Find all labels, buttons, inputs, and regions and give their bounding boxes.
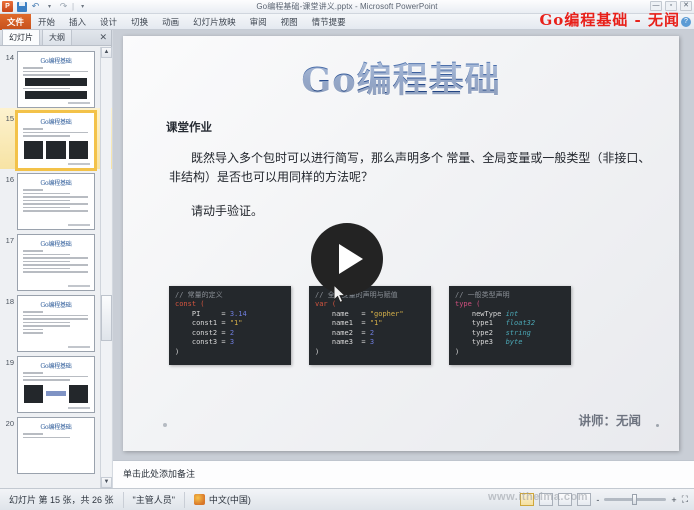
thumbnail-title: Go编程基础 <box>18 117 94 126</box>
thumb-line <box>23 264 88 266</box>
code-close: ) <box>455 348 565 357</box>
scrollbar-thumb[interactable] <box>101 295 112 341</box>
thumb-line <box>23 372 43 374</box>
pane-tab-slides[interactable]: 幻灯片 <box>2 29 40 45</box>
thumb-line <box>23 207 70 209</box>
thumbnail-title: Go编程基础 <box>18 300 94 309</box>
thumb-line <box>23 437 70 439</box>
code-line: name = "gopher" <box>315 310 425 319</box>
thumb-line <box>23 193 70 195</box>
play-triangle-icon <box>339 244 363 274</box>
thumb-line <box>23 332 43 334</box>
thumb-line <box>23 196 88 198</box>
powerpoint-window: P ↶ ▾ ↷ | ▾ Go编程基础-课堂讲义.pptx - Microsoft… <box>0 0 694 510</box>
thumb-line <box>23 74 70 76</box>
list-item[interactable]: 19 Go编程基础 <box>0 352 112 413</box>
thumb-line <box>23 315 88 317</box>
code-line: type2 string <box>455 329 565 338</box>
language-icon <box>194 494 205 505</box>
type-code-block[interactable]: // 一般类型声明 type ( newType int type1 float… <box>449 286 571 365</box>
thumb-line <box>23 257 88 259</box>
thumb-line <box>23 379 70 381</box>
thumb-line <box>23 318 88 320</box>
tab-design[interactable]: 设计 <box>93 14 124 30</box>
thumb-line <box>23 329 43 331</box>
tab-view[interactable]: 视图 <box>274 14 305 30</box>
thumbnail-title: Go编程基础 <box>18 178 94 187</box>
thumbnail-slide-14[interactable]: Go编程基础 <box>17 51 95 108</box>
thumbnail-list[interactable]: 14 Go编程基础 15 Go编程基础 <box>0 47 112 488</box>
code-open: const ( <box>175 300 285 309</box>
tab-slideshow[interactable]: 幻灯片放映 <box>186 14 243 30</box>
close-pane-icon[interactable]: ✕ <box>99 32 107 43</box>
list-item[interactable]: 15 Go编程基础 <box>0 108 112 169</box>
list-item[interactable]: 17 Go编程基础 <box>0 230 112 291</box>
thumb-footer <box>68 285 90 287</box>
tab-transitions[interactable]: 切换 <box>124 14 155 30</box>
code-blocks-group: // 常量的定义 const ( PI = 3.14 const1 = "1" … <box>169 286 571 365</box>
thumb-line <box>23 135 70 137</box>
thumb-footer <box>68 163 90 165</box>
thumb-line <box>23 128 43 130</box>
slide-paragraph-1: 既然导入多个包时可以进行简写，那么声明多个 常量、全局变量或一般类型（非接口、非… <box>169 149 653 186</box>
tab-file[interactable]: 文件 <box>0 14 31 30</box>
thumbnail-slide-18[interactable]: Go编程基础 <box>17 295 95 352</box>
thumb-line <box>23 189 43 191</box>
thumb-line <box>23 203 88 205</box>
thumb-code-group <box>24 141 88 159</box>
thumb-line <box>23 376 88 378</box>
const-code-block[interactable]: // 常量的定义 const ( PI = 3.14 const1 = "1" … <box>169 286 291 365</box>
tab-review[interactable]: 审阅 <box>243 14 274 30</box>
slide-decoration-dot-right <box>656 424 659 427</box>
code-comment: // 常量的定义 <box>175 291 285 300</box>
thumbnail-number: 17 <box>2 234 14 245</box>
thumbnail-title: Go编程基础 <box>18 239 94 248</box>
slides-pane-scrollbar[interactable]: ▲ ▼ <box>100 47 111 488</box>
thumb-footer <box>68 224 90 226</box>
slide-count-status[interactable]: 幻灯片 第 15 张，共 26 张 <box>0 492 124 508</box>
thumb-line <box>23 210 88 212</box>
code-line: type1 float32 <box>455 319 565 328</box>
code-close: ) <box>175 348 285 357</box>
language-label: 中文(中国) <box>209 492 251 508</box>
thumb-line <box>23 271 88 273</box>
notes-pane[interactable]: 单击此处添加备注 <box>113 460 694 488</box>
tab-animations[interactable]: 动画 <box>155 14 186 30</box>
slide-edit-area[interactable]: Go编程基础 课堂作业 既然导入多个包时可以进行简写，那么声明多个 常量、全局变… <box>113 30 694 460</box>
thumb-line <box>23 88 70 90</box>
theme-status[interactable]: "主管人员" <box>124 492 185 508</box>
slide-decoration-dot-left <box>163 423 167 427</box>
slide-body-text[interactable]: 既然导入多个包时可以进行简写，那么声明多个 常量、全局变量或一般类型（非接口、非… <box>169 149 653 221</box>
code-line: PI = 3.14 <box>175 310 285 319</box>
code-line: const2 = 2 <box>175 329 285 338</box>
tab-home[interactable]: 开始 <box>31 14 62 30</box>
thumb-code <box>25 78 87 86</box>
scroll-up-icon[interactable]: ▲ <box>101 47 112 58</box>
thumb-footer <box>68 407 90 409</box>
thumbnail-slide-15[interactable]: Go编程基础 <box>17 112 95 169</box>
thumb-code <box>25 91 87 99</box>
thumbnail-number: 15 <box>2 112 14 123</box>
list-item[interactable]: 16 Go编程基础 <box>0 169 112 230</box>
code-line: const1 = "1" <box>175 319 285 328</box>
thumbnail-title: Go编程基础 <box>18 361 94 370</box>
thumbnail-number: 20 <box>2 417 14 428</box>
list-item[interactable]: 14 Go编程基础 <box>0 47 112 108</box>
help-icon[interactable]: ? <box>681 17 691 27</box>
code-open: type ( <box>455 300 565 309</box>
thumb-line <box>23 132 88 134</box>
thumb-line <box>23 433 43 435</box>
red-watermark-text: Go编程基础 - 无闻 <box>540 9 681 30</box>
thumbnail-number: 16 <box>2 173 14 184</box>
notes-placeholder[interactable]: 单击此处添加备注 <box>113 461 694 480</box>
thumbnail-slide-19[interactable]: Go编程基础 <box>17 356 95 413</box>
pane-tab-outline[interactable]: 大纲 <box>42 29 72 45</box>
thumbnail-title: Go编程基础 <box>18 56 94 65</box>
pane-tab-strip: 幻灯片 大纲 ✕ <box>0 30 111 46</box>
thumbnail-number: 18 <box>2 295 14 306</box>
list-item[interactable]: 20 Go编程基础 <box>0 413 112 474</box>
thumb-line <box>23 71 88 73</box>
list-item[interactable]: 18 Go编程基础 <box>0 291 112 352</box>
thumb-line <box>23 200 70 202</box>
code-comment: // 全局变量的声明与赋值 <box>315 291 425 300</box>
scroll-down-icon[interactable]: ▼ <box>101 477 112 488</box>
code-open: var ( <box>315 300 425 309</box>
thumb-line <box>23 254 70 256</box>
slide-subtitle[interactable]: 课堂作业 <box>166 119 679 135</box>
tab-storyboarding[interactable]: 情节提要 <box>305 14 353 30</box>
var-code-block[interactable]: // 全局变量的声明与赋值 var ( name = "gopher" name… <box>309 286 431 365</box>
code-line: name3 = 3 <box>315 338 425 347</box>
thumbnail-slide-17[interactable]: Go编程基础 <box>17 234 95 291</box>
thumb-line <box>23 322 70 324</box>
thumb-line <box>23 325 70 327</box>
code-line: const3 = 3 <box>175 338 285 347</box>
thumb-footer <box>68 102 90 104</box>
code-line: name2 = 2 <box>315 329 425 338</box>
thumb-line <box>23 311 43 313</box>
thumbnail-number: 19 <box>2 356 14 367</box>
thumbnail-slide-16[interactable]: Go编程基础 <box>17 173 95 230</box>
current-slide[interactable]: Go编程基础 课堂作业 既然导入多个包时可以进行简写，那么声明多个 常量、全局变… <box>123 36 679 451</box>
language-status[interactable]: 中文(中国) <box>185 492 260 508</box>
thumb-line <box>23 67 43 69</box>
thumbnail-slide-20[interactable]: Go编程基础 <box>17 417 95 474</box>
thumb-footer <box>68 346 90 348</box>
slide-footer-text: 讲师：无闻 <box>578 410 641 429</box>
close-button[interactable]: ✕ <box>680 1 692 11</box>
code-line: name1 = "1" <box>315 319 425 328</box>
thumb-line <box>23 261 70 263</box>
code-line: type3 byte <box>455 338 565 347</box>
status-watermark-text: www.itheima.com <box>488 491 688 507</box>
thumbnail-number: 14 <box>2 51 14 62</box>
thumb-line <box>23 250 43 252</box>
code-line: newType int <box>455 310 565 319</box>
thumb-line <box>23 268 70 270</box>
slide-paragraph-2: 请动手验证。 <box>191 202 653 221</box>
thumb-code-group <box>24 385 88 403</box>
code-comment: // 一般类型声明 <box>455 291 565 300</box>
code-close: ) <box>315 348 425 357</box>
tab-insert[interactable]: 插入 <box>62 14 93 30</box>
thumbnail-title: Go编程基础 <box>18 422 94 431</box>
slide-title[interactable]: Go编程基础 <box>123 52 679 103</box>
slides-pane: 幻灯片 大纲 ✕ 14 Go编程基础 15 <box>0 30 112 488</box>
